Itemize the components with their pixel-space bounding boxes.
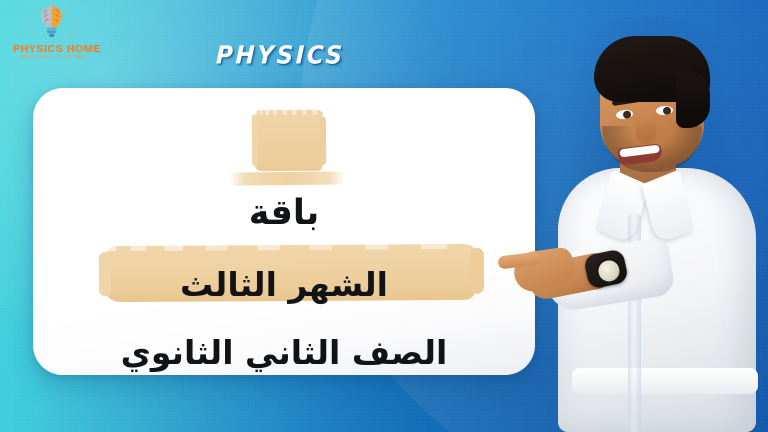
highlight-marker-line-1 <box>255 110 323 171</box>
offer-line-package-text: باقة <box>249 193 319 233</box>
offer-line-month-text: الشهر الثالث <box>180 265 388 304</box>
brand-wordmark: PHYSICS HOME <box>13 44 91 55</box>
offer-card-inner: باقة الشهر الثالث الصف الثاني الثانوي <box>33 88 535 375</box>
offer-card: باقة الشهر الثالث الصف الثاني الثانوي <box>33 88 535 375</box>
highlight-rough-edge <box>105 244 477 251</box>
highlight-rough-edge <box>255 110 323 115</box>
subject-heading: PHYSICS <box>216 44 346 69</box>
brand-logo: PHYSICS HOME EDUCATIONAL PLATFORM <box>13 4 91 66</box>
offer-line-grade: الصف الثاني الثانوي <box>33 336 535 369</box>
brain-lightbulb-icon <box>36 5 67 38</box>
offer-line-package: باقة <box>33 196 535 231</box>
promo-banner: PHYSICS HOME EDUCATIONAL PLATFORM PHYSIC… <box>0 0 768 432</box>
highlight-marker-line-2 <box>229 171 345 185</box>
offer-line-month: الشهر الثالث <box>33 268 535 301</box>
brand-tagline: EDUCATIONAL PLATFORM <box>13 55 91 60</box>
offer-line-grade-text: الصف الثاني الثانوي <box>121 333 448 372</box>
